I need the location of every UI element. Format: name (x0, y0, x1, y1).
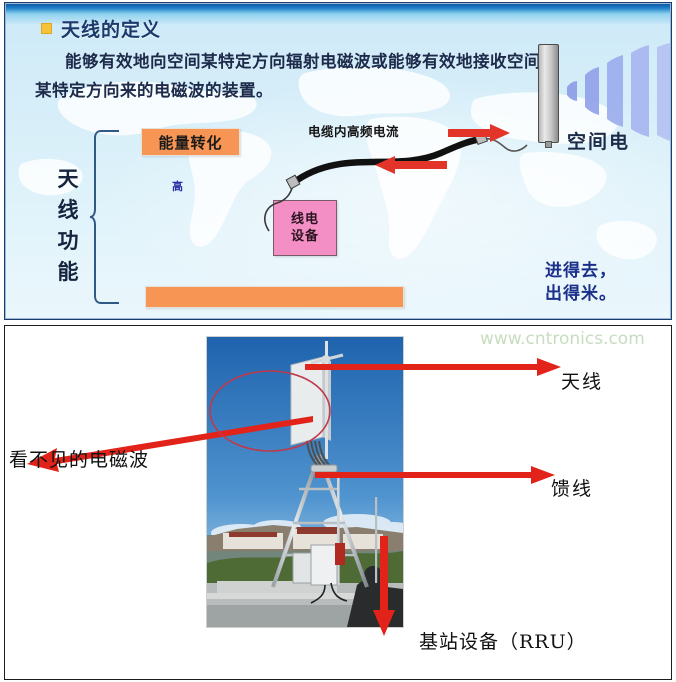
label-invisible-wave: 看不见的电磁波 (9, 445, 149, 472)
energy-conversion-box: 能量转化 (141, 128, 240, 156)
curly-brace-icon (89, 129, 121, 305)
site-watermark: www.cntronics.com (480, 329, 645, 349)
definition-paragraph: 能够有效地向空间某特定方向辐射电磁波或能够有效地接收空间某特定方向来的电磁波的装… (35, 47, 545, 105)
antenna-icon (538, 44, 559, 143)
base-station-photo (206, 336, 404, 628)
label-feeder: 馈线 (551, 474, 593, 501)
vertical-char-0: 天 (53, 163, 83, 194)
slogan-line-1: 出得米。 (545, 283, 617, 306)
space-electromagnetic-label: 空间电 (567, 127, 630, 154)
slide-page: 天线的定义 能够有效地向空间某特定方向辐射电磁波或能够有效地接收空间某特定方向来… (0, 0, 676, 682)
page-title: 天线的定义 (61, 15, 161, 42)
gao-label: 高 (172, 178, 183, 194)
vertical-char-2: 功 (53, 225, 83, 256)
current-arrow-right-icon (448, 124, 510, 142)
definition-slide: 天线的定义 能够有效地向空间某特定方向辐射电磁波或能够有效地接收空间某特定方向来… (4, 2, 672, 320)
slogan-text: 进得去， 出得米。 (545, 260, 617, 306)
label-base-station: 基站设备（RRU） (419, 627, 587, 654)
current-arrow-left-icon (375, 156, 447, 174)
base-station-photo-panel: 天线 馈线 看不见的电磁波 基站设备（RRU） (4, 325, 672, 680)
antenna-function-label: 天 线 功 能 (53, 163, 83, 287)
bottom-orange-bar (145, 286, 404, 308)
slide-title-row: 天线的定义 (41, 15, 161, 42)
label-antenna: 天线 (561, 367, 603, 394)
vertical-char-1: 线 (53, 194, 83, 225)
energy-conversion-label: 能量转化 (158, 132, 222, 153)
vertical-char-3: 能 (53, 256, 83, 287)
slogan-line-0: 进得去， (545, 260, 617, 283)
square-bullet-icon (41, 23, 52, 34)
